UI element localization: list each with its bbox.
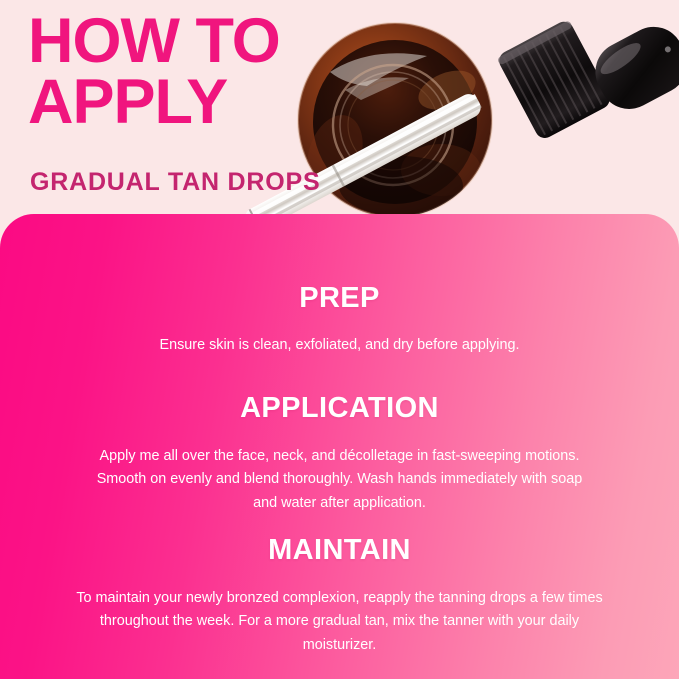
section-title-prep: PREP (0, 282, 679, 315)
title-line-1: HOW TO (28, 12, 428, 71)
how-to-apply-poster: HOW TO APPLY GRADUAL TAN DROPS PREP Ensu… (0, 0, 679, 679)
title-line-2: APPLY (28, 73, 428, 132)
section-title-maintain: MAINTAIN (0, 534, 679, 567)
page-subtitle: GRADUAL TAN DROPS (30, 168, 320, 197)
section-body-maintain: To maintain your newly bronzed complexio… (69, 587, 611, 657)
page-title: HOW TO APPLY (28, 12, 428, 131)
section-maintain: MAINTAIN To maintain your newly bronzed … (0, 534, 679, 657)
section-application: APPLICATION Apply me all over the face, … (0, 392, 679, 515)
section-body-application: Apply me all over the face, neck, and dé… (90, 445, 590, 515)
section-body-prep: Ensure skin is clean, exfoliated, and dr… (80, 334, 600, 357)
instructions-panel: PREP Ensure skin is clean, exfoliated, a… (0, 214, 679, 679)
section-prep: PREP Ensure skin is clean, exfoliated, a… (0, 282, 679, 357)
section-title-application: APPLICATION (0, 392, 679, 425)
